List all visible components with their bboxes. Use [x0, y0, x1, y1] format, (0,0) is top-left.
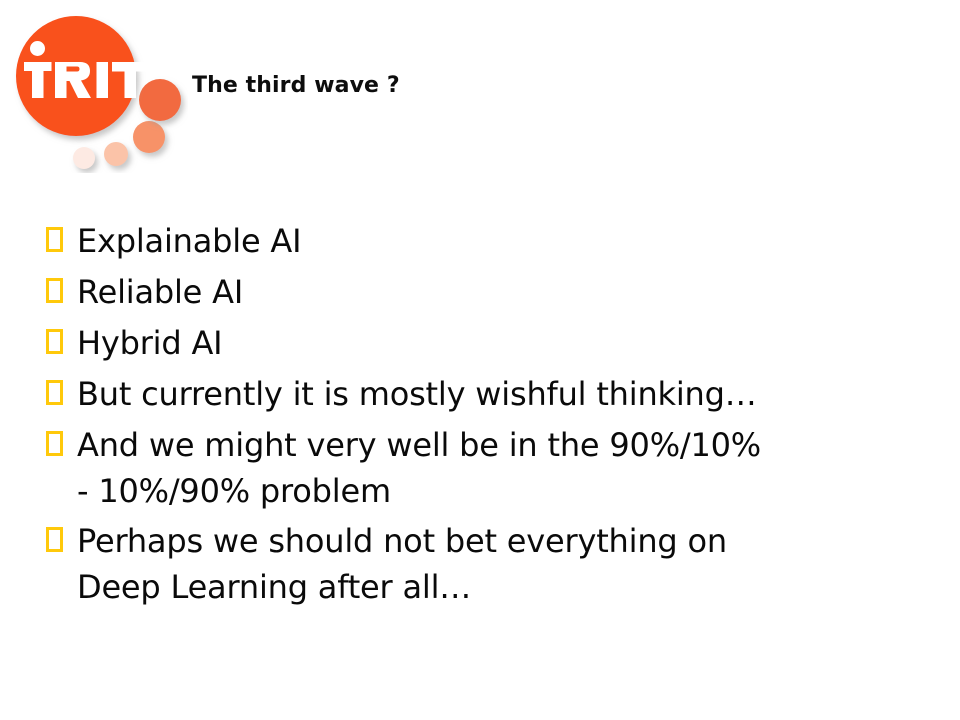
- presentation-slide: The third wave ? Explainable AI Reliable…: [0, 0, 960, 720]
- bullet-box-icon: [46, 278, 63, 303]
- bullet-box-icon: [46, 380, 63, 405]
- list-item: Perhaps we should not bet everything on …: [46, 518, 946, 610]
- list-item-label: But currently it is mostly wishful think…: [77, 371, 946, 417]
- bullet-box-icon: [46, 527, 63, 552]
- logo-bubble-2: [139, 79, 181, 121]
- irit-logo: [8, 8, 188, 173]
- list-item-label: Perhaps we should not bet everything on …: [77, 518, 946, 610]
- bullet-list: Explainable AI Reliable AI Hybrid AI But…: [46, 218, 946, 614]
- page-title: The third wave ?: [192, 72, 400, 100]
- logo-bubble-5: [73, 147, 95, 169]
- list-item: But currently it is mostly wishful think…: [46, 371, 946, 417]
- list-item-label: Reliable AI: [77, 269, 946, 315]
- list-item-label: And we might very well be in the 90%/10%…: [77, 422, 946, 514]
- bullet-box-icon: [46, 329, 63, 354]
- logo-bubble-4: [104, 142, 128, 166]
- list-item-line-1: Perhaps we should not bet everything on: [77, 518, 946, 564]
- bullet-box-icon: [46, 227, 63, 252]
- list-item-line-2: Deep Learning after all…: [77, 564, 946, 610]
- list-item: Hybrid AI: [46, 320, 946, 366]
- bullet-box-icon: [46, 431, 63, 456]
- list-item: Explainable AI: [46, 218, 946, 264]
- list-item-line-2: - 10%/90% problem: [77, 468, 946, 514]
- list-item-label: Explainable AI: [77, 218, 946, 264]
- logo-bubble-3: [133, 121, 165, 153]
- list-item-line-1: And we might very well be in the 90%/10%: [77, 422, 946, 468]
- list-item: Reliable AI: [46, 269, 946, 315]
- list-item: And we might very well be in the 90%/10%…: [46, 422, 946, 514]
- list-item-label: Hybrid AI: [77, 320, 946, 366]
